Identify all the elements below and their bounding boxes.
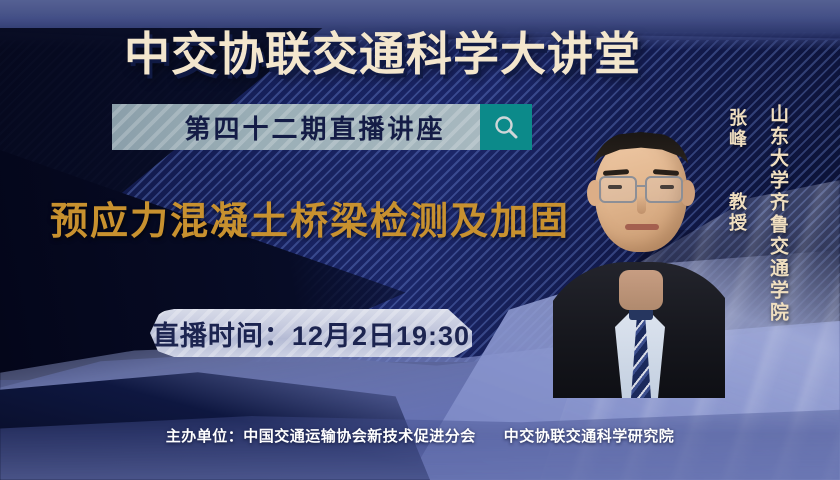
footer-organizers: 主办单位：中国交通运输协会新技术促进分会中交协联交通科学研究院 xyxy=(0,425,840,446)
speaker-role: 教授 xyxy=(724,192,750,234)
footer-organizer-1: 中国交通运输协会新技术促进分会 xyxy=(243,428,476,445)
footer-organizer-2: 中交协联交通科学研究院 xyxy=(504,428,675,445)
portrait-nose xyxy=(637,196,646,214)
broadcast-time-pill: 直播时间：12月2日19:30 xyxy=(150,309,472,357)
search-icon-box[interactable] xyxy=(480,104,532,150)
footer-organizer-label: 主办单位： xyxy=(166,428,244,445)
speaker-institution: 山东大学齐鲁交通学院 xyxy=(764,104,791,324)
portrait-mouth xyxy=(625,224,659,230)
search-icon xyxy=(492,113,520,141)
glasses-lens-left xyxy=(599,176,637,203)
live-lecture-poster: 中交协联交通科学大讲堂 第四十二期直播讲座 预应力混凝土桥梁检测及加固 直播时间… xyxy=(0,0,840,480)
main-title: 中交协联交通科学大讲堂 xyxy=(124,18,641,84)
subtitle-label: 第四十二期直播讲座 xyxy=(136,109,455,146)
subtitle-plate: 第四十二期直播讲座 xyxy=(112,104,480,150)
lecture-title: 预应力混凝土桥梁检测及加固 xyxy=(50,190,570,245)
portrait-neck xyxy=(619,270,663,310)
speaker-name: 张峰 xyxy=(724,108,750,150)
subtitle-bar: 第四十二期直播讲座 xyxy=(112,104,532,150)
speaker-portrait xyxy=(553,106,725,398)
broadcast-time-text: 直播时间：12月2日19:30 xyxy=(152,314,470,353)
glasses-lens-right xyxy=(645,176,683,203)
